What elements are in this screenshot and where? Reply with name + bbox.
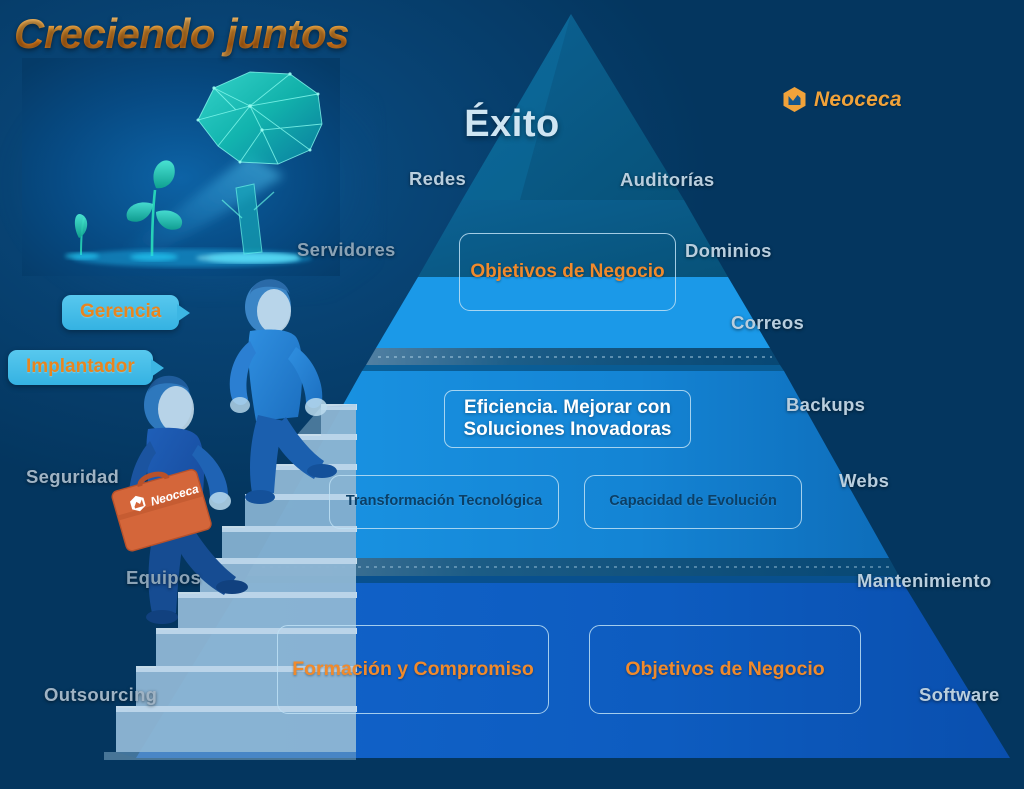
node-formacion-y-compromiso[interactable]: Formación y Compromiso [277, 625, 549, 714]
label-webs: Webs [839, 470, 889, 492]
slide-canvas: Neoceca Creciendo juntos Neoceca Gerenci… [0, 0, 1024, 789]
label-redes: Redes [409, 168, 466, 190]
bubble-implantador[interactable]: Implantador [8, 350, 153, 385]
node-capacidad-de-evolucion[interactable]: Capacidad de Evolución [584, 475, 802, 529]
label-backups: Backups [786, 394, 865, 416]
label-outsourcing: Outsourcing [44, 684, 157, 706]
label-software: Software [919, 684, 1000, 706]
page-title: Creciendo juntos [14, 10, 349, 58]
brand-name: Neoceca [814, 88, 902, 112]
node-transformacion-tecnologica[interactable]: Transformación Tecnológica [329, 475, 559, 529]
label-mantenimiento: Mantenimiento [857, 570, 991, 592]
bubble-gerencia[interactable]: Gerencia [62, 295, 179, 330]
label-auditorias: Auditorías [620, 169, 714, 191]
node-eficiencia-soluciones[interactable]: Eficiencia. Mejorar con Soluciones Inova… [444, 390, 691, 448]
brand-logo[interactable]: Neoceca [782, 86, 902, 113]
label-servidores: Servidores [297, 239, 396, 261]
node-objetivos-de-negocio-bottom[interactable]: Objetivos de Negocio [589, 625, 861, 714]
label-dominios: Dominios [685, 240, 772, 262]
label-correos: Correos [731, 312, 804, 334]
label-seguridad: Seguridad [26, 466, 119, 488]
hexagon-logo-icon [782, 86, 807, 113]
label-equipos: Equipos [126, 567, 201, 589]
node-objetivos-de-negocio-top[interactable]: Objetivos de Negocio [459, 233, 676, 311]
